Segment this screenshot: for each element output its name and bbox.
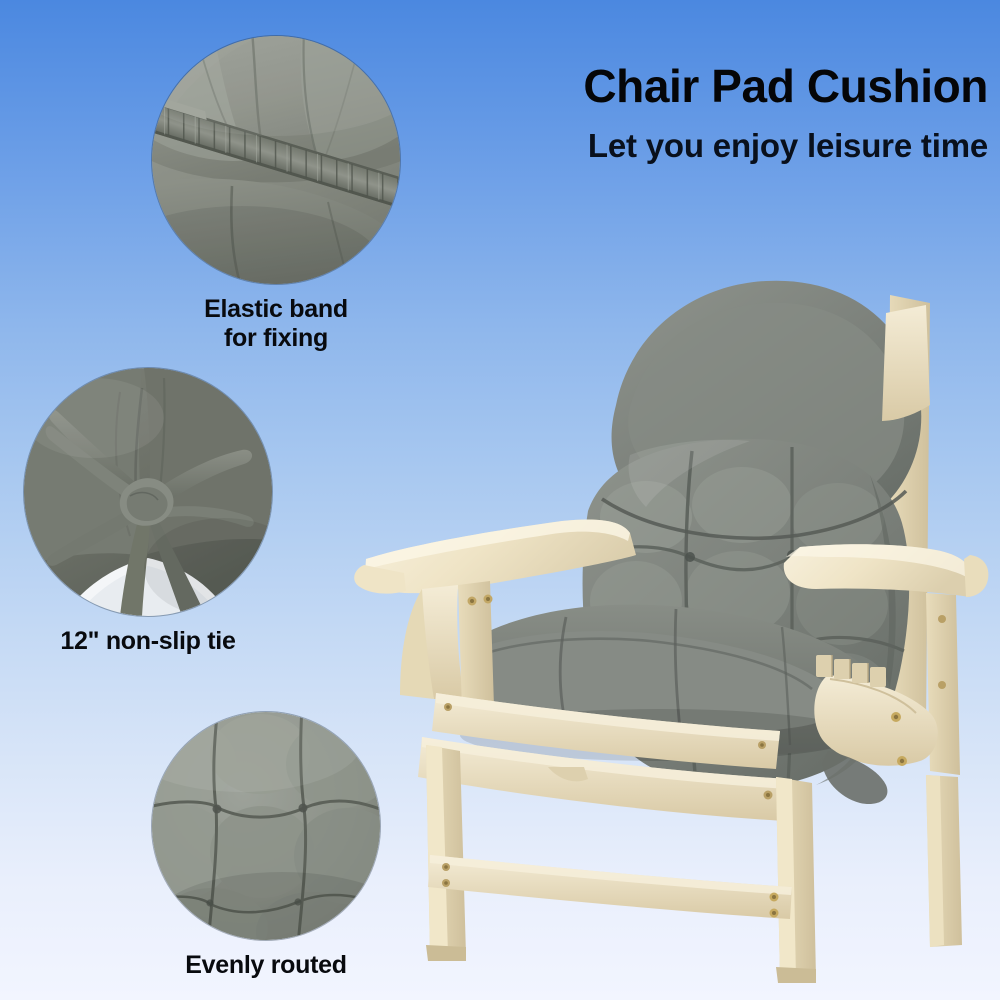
product-marketing-image: Chair Pad Cushion Let you enjoy leisure … xyxy=(0,0,1000,1000)
adirondack-chair-with-cushion xyxy=(330,255,1000,985)
callout-caption: Elastic band for fixing xyxy=(152,295,400,352)
callout-evenly-routed: Evenly routed xyxy=(152,712,380,980)
non-slip-tie-detail xyxy=(24,368,272,616)
callout-non-slip-tie: 12" non-slip tie xyxy=(24,368,272,656)
callout-caption: 12" non-slip tie xyxy=(24,627,272,656)
callout-caption: Evenly routed xyxy=(152,951,380,980)
stretcher-rail xyxy=(428,855,792,919)
evenly-routed-detail xyxy=(152,712,380,940)
heading-block: Chair Pad Cushion Let you enjoy leisure … xyxy=(328,62,988,165)
page-title: Chair Pad Cushion xyxy=(328,62,988,110)
page-subtitle: Let you enjoy leisure time xyxy=(328,128,988,164)
